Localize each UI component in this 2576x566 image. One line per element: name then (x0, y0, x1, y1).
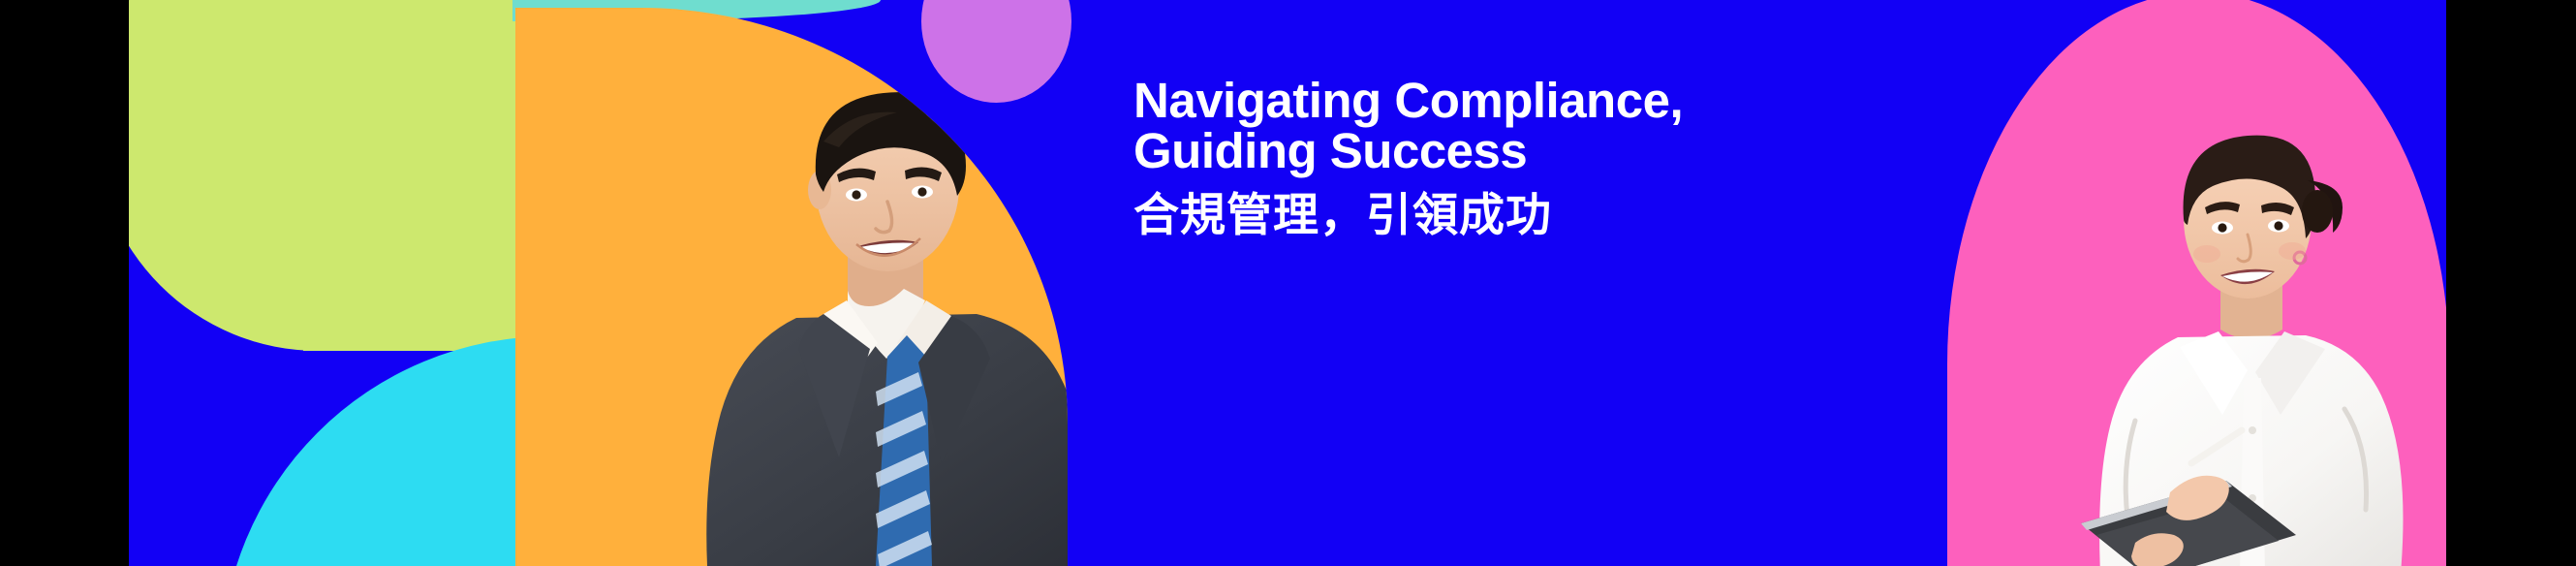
lime-blob-fill (303, 0, 516, 351)
businesswoman-portrait (2054, 118, 2446, 566)
banner-stage: Navigating Compliance, Guiding Success 合… (129, 0, 2446, 566)
orange-panel-shape (515, 8, 1068, 566)
headline-block: Navigating Compliance, Guiding Success 合… (1133, 76, 1754, 242)
headline-english: Navigating Compliance, Guiding Success (1133, 76, 1754, 176)
marketing-banner: Navigating Compliance, Guiding Success 合… (0, 0, 2576, 566)
letterbox-bar-left (0, 0, 129, 566)
pink-arch-shape (1947, 0, 2446, 566)
businessman-portrait (630, 81, 1068, 566)
headline-chinese: 合規管理，引領成功 (1133, 190, 1754, 242)
letterbox-bar-right (2446, 0, 2576, 566)
